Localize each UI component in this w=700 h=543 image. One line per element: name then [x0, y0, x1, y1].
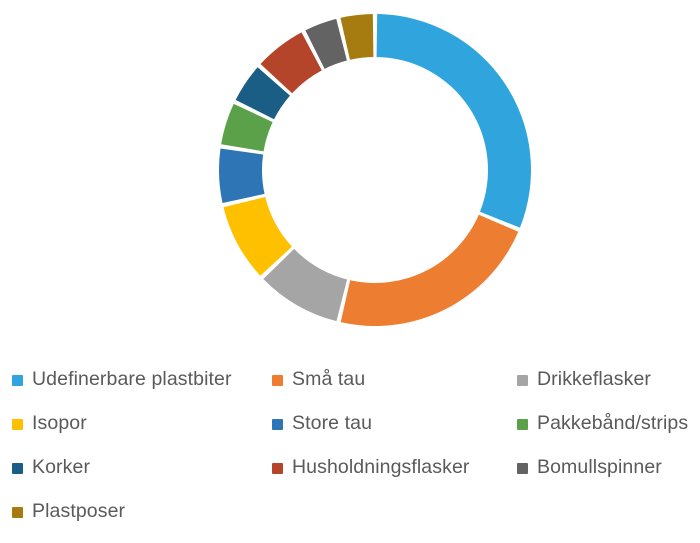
legend-item-label: Drikkeflasker [537, 370, 651, 390]
doughnut-slice[interactable] [377, 14, 531, 228]
legend-item-label: Store tau [292, 414, 372, 434]
legend-item[interactable]: Drikkeflasker [505, 358, 700, 402]
doughnut-slice[interactable] [219, 149, 265, 203]
legend-swatch-icon [517, 463, 528, 474]
legend-item-label: Pakkebånd/strips [537, 414, 688, 434]
legend-item[interactable]: Små tau [260, 358, 505, 402]
legend-item[interactable]: Bomullspinner [505, 446, 700, 490]
legend-swatch-icon [272, 375, 283, 386]
legend-swatch-icon [517, 419, 528, 430]
legend-item[interactable]: Husholdningsflasker [260, 446, 505, 490]
legend-swatch-icon [12, 507, 23, 518]
legend-item-label: Isopor [32, 414, 87, 434]
doughnut-chart: Udefinerbare plastbiterSmå tauDrikkeflas… [0, 0, 700, 543]
legend-swatch-icon [272, 419, 283, 430]
legend-item-label: Udefinerbare plastbiter [32, 370, 232, 390]
legend-item[interactable]: Pakkebånd/strips [505, 402, 700, 446]
legend-item-label: Husholdningsflasker [292, 458, 470, 478]
legend-grid: Udefinerbare plastbiterSmå tauDrikkeflas… [0, 358, 700, 534]
doughnut-slice[interactable] [341, 215, 519, 326]
legend-item[interactable]: Store tau [260, 402, 505, 446]
legend-item[interactable]: Korker [0, 446, 260, 490]
chart-plot-area [0, 0, 700, 348]
doughnut-slice-group [219, 14, 531, 326]
legend-item-label: Plastposer [32, 502, 125, 522]
legend-item-label: Bomullspinner [537, 458, 662, 478]
legend-item-label: Korker [32, 458, 90, 478]
legend-item[interactable]: Udefinerbare plastbiter [0, 358, 260, 402]
legend-swatch-icon [272, 463, 283, 474]
legend-item[interactable]: Plastposer [0, 490, 260, 534]
doughnut-svg [0, 0, 700, 348]
legend-swatch-icon [12, 419, 23, 430]
chart-legend: Udefinerbare plastbiterSmå tauDrikkeflas… [0, 358, 700, 543]
legend-item-label: Små tau [292, 370, 365, 390]
legend-swatch-icon [12, 463, 23, 474]
legend-item[interactable]: Isopor [0, 402, 260, 446]
legend-swatch-icon [12, 375, 23, 386]
legend-swatch-icon [517, 375, 528, 386]
doughnut-slice[interactable] [340, 14, 373, 60]
